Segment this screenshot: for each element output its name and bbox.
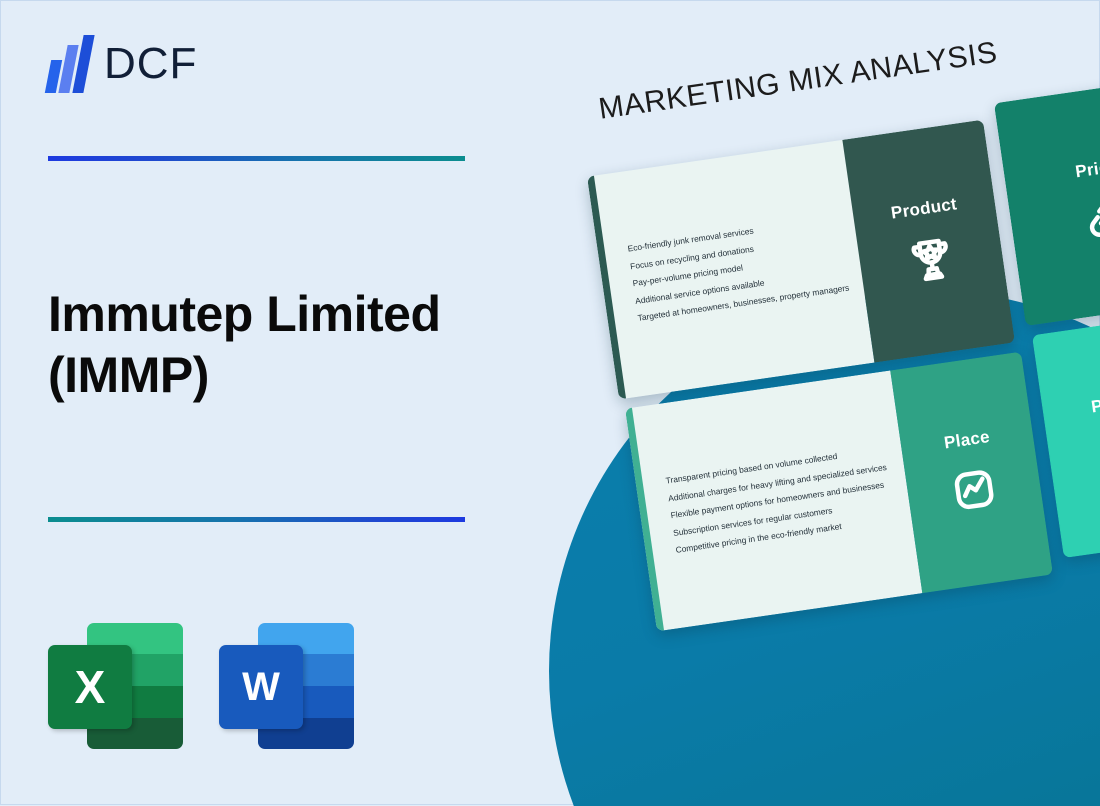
mix-label-promotion: Promotion <box>1090 385 1100 417</box>
word-file-icon[interactable]: W <box>219 621 354 751</box>
trophy-icon <box>902 228 961 287</box>
left-info-panel: DCF Immutep Limited (IMMP) X W <box>1 1 561 806</box>
excel-file-icon[interactable]: X <box>48 621 183 751</box>
divider-bottom <box>48 517 465 522</box>
activity-chart-icon <box>945 460 1004 519</box>
brand-name: DCF <box>104 42 197 86</box>
marketing-mix-heading: MARKETING MIX ANALYSIS <box>597 32 1027 127</box>
mix-label-place: Place <box>943 427 991 453</box>
word-badge-letter: W <box>219 645 303 729</box>
mix-bullets-product: Eco-friendly junk removal services Focus… <box>587 140 874 399</box>
divider-top <box>48 156 465 161</box>
brand-logo[interactable]: DCF <box>48 35 197 93</box>
excel-badge-letter: X <box>48 645 132 729</box>
marketing-mix-graphic: MARKETING MIX ANALYSIS Price Promotion E… <box>541 1 1100 806</box>
mix-tile-product: Product <box>842 120 1015 363</box>
link-chain-icon <box>1074 189 1100 248</box>
download-icons: X W <box>48 621 354 751</box>
mix-tile-price: Price <box>994 77 1100 326</box>
mix-label-product: Product <box>890 194 959 223</box>
mix-card-price[interactable]: Price <box>994 77 1100 326</box>
page-title: Immutep Limited (IMMP) <box>48 284 518 406</box>
mix-label-price: Price <box>1074 156 1100 182</box>
bar-chart-logo-icon <box>48 35 94 93</box>
mix-bullets-place: Transparent pricing based on volume coll… <box>625 370 922 631</box>
